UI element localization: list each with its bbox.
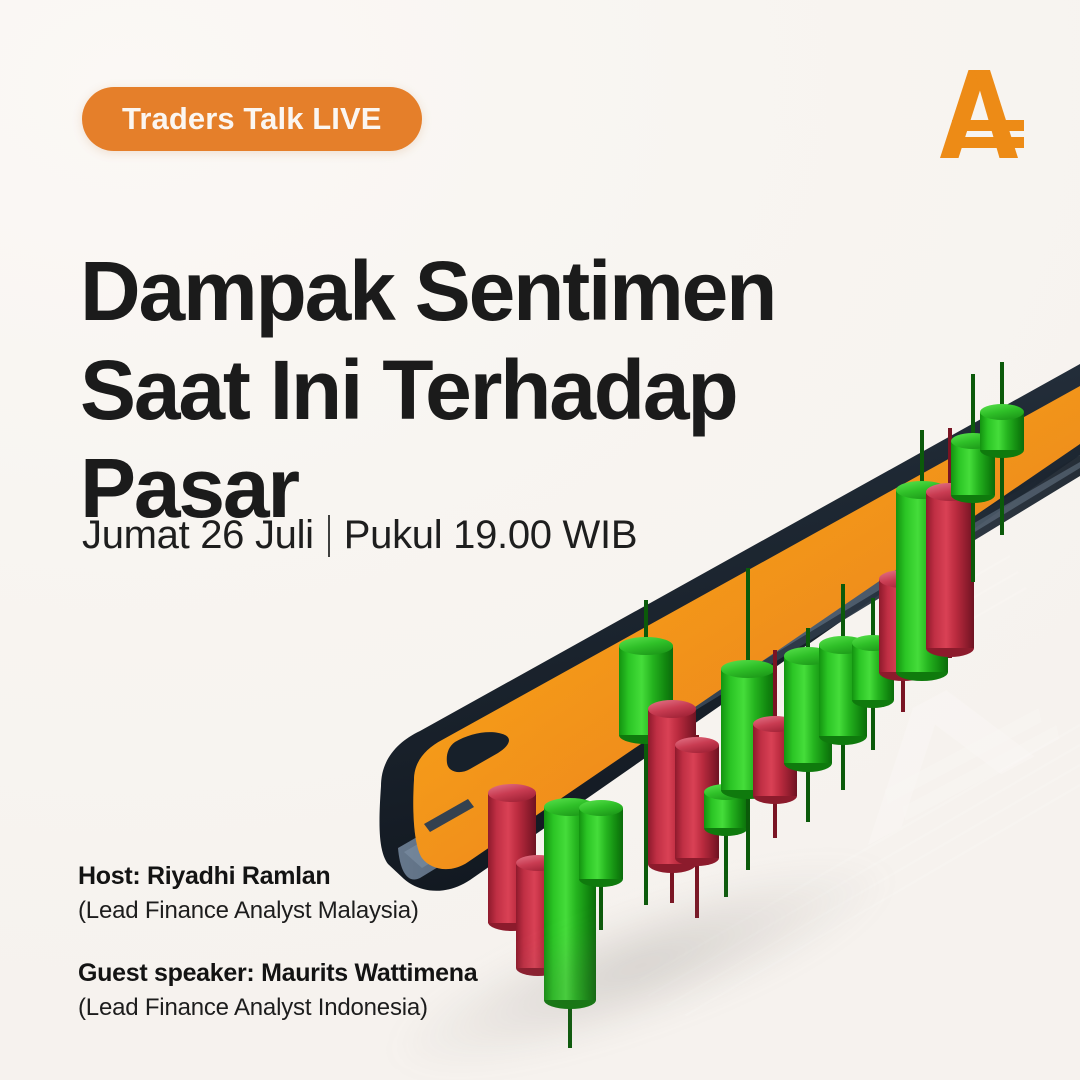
event-date: Jumat 26 Juli [82, 513, 314, 558]
candle-17-up [951, 374, 995, 582]
guest-role: (Lead Finance Analyst Indonesia) [78, 994, 477, 1022]
live-badge[interactable]: Traders Talk LIVE [82, 87, 422, 151]
candle-11-up [784, 628, 832, 822]
event-time: Pukul 19.00 WIB [344, 513, 637, 558]
credit-host: Host: Riyadhi Ramlan (Lead Finance Analy… [78, 862, 477, 925]
phone-notch [447, 732, 509, 772]
candle-5-up [619, 600, 673, 905]
candle-14-down [879, 516, 927, 712]
screen-logo-watermark [846, 641, 1060, 845]
candle-7-down [675, 735, 719, 918]
guest-name: Guest speaker: Maurits Wattimena [78, 959, 477, 988]
candle-3-up [544, 798, 596, 1048]
phone-side-button [424, 799, 474, 832]
logo-a-mark[interactable] [928, 62, 1032, 166]
candle-12-up [819, 584, 867, 790]
headline-line-2: Saat Ini Terhadap [80, 341, 800, 439]
candle-10-down [753, 650, 797, 838]
host-role: (Lead Finance Analyst Malaysia) [78, 897, 477, 925]
credit-guest: Guest speaker: Maurits Wattimena (Lead F… [78, 959, 477, 1022]
speaker-credits: Host: Riyadhi Ramlan (Lead Finance Analy… [78, 862, 477, 1022]
candle-6-down [648, 700, 696, 903]
poster-canvas: Traders Talk LIVE Dampak Sentimen Saat I… [0, 0, 1080, 1080]
candle-9-up [721, 568, 775, 870]
candle-4-up [579, 800, 623, 930]
candle-1-down [488, 784, 536, 931]
event-datetime: Jumat 26 Juli Pukul 19.00 WIB [82, 513, 637, 558]
page-title: Dampak Sentimen Saat Ini Terhadap Pasar [80, 242, 800, 537]
candle-13-up [852, 598, 894, 750]
screen-stripes [640, 556, 1080, 1028]
candle-16-down [926, 428, 974, 658]
host-name: Host: Riyadhi Ramlan [78, 862, 477, 891]
candle-15-up [896, 430, 948, 681]
candle-18-up [980, 362, 1024, 535]
live-badge-label: Traders Talk LIVE [122, 101, 382, 137]
datetime-separator [328, 515, 330, 557]
candle-8-up [704, 760, 748, 897]
headline-line-1: Dampak Sentimen [80, 242, 800, 340]
logo-a-icon [928, 62, 1032, 166]
candle-2-down [516, 855, 560, 976]
